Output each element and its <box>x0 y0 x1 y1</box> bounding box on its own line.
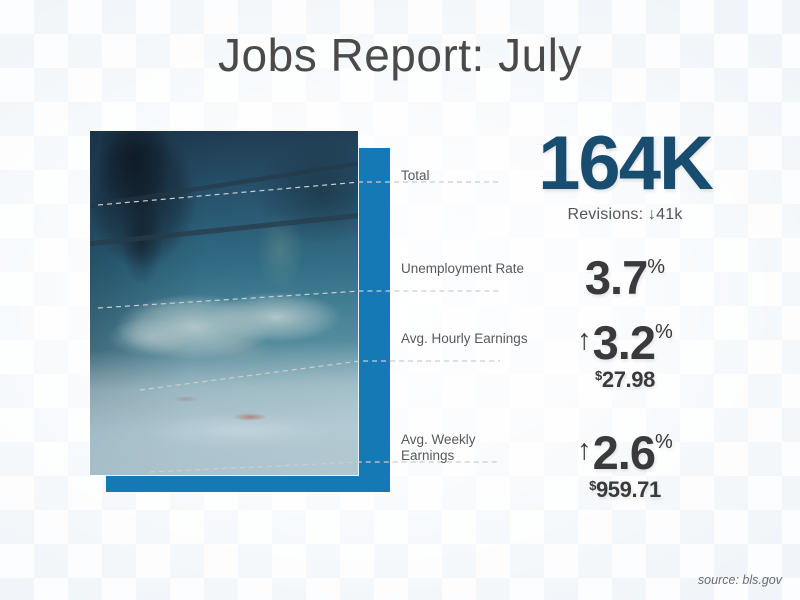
hourly-percent-row: ↑ 3.2 % <box>500 317 750 369</box>
handshake-photo <box>90 131 358 475</box>
up-arrow-icon: ↑ <box>577 317 592 363</box>
total-jobs-number: 164K <box>490 126 760 202</box>
weekly-number: 2.6 <box>593 427 655 479</box>
stat-value-total: 164K Revisions: ↓41k <box>490 126 760 224</box>
up-arrow-icon: ↑ <box>577 427 592 473</box>
page-title: Jobs Report: July <box>0 28 800 82</box>
revisions-label: Revisions: <box>567 206 643 223</box>
source-credit: source: bls.gov <box>698 573 782 587</box>
weekly-amount: $959.71 <box>500 477 750 503</box>
down-arrow-icon: ↓ <box>648 206 656 223</box>
photo-layer-blue-tint <box>90 131 358 475</box>
hourly-amount-value: 27.98 <box>602 367 655 392</box>
percent-symbol: % <box>647 254 665 280</box>
hourly-number: 3.2 <box>593 317 655 369</box>
stat-value-unemployment: 3.7 % <box>500 252 750 304</box>
infographic-canvas: Employment Report Jobs Report: July Tota… <box>0 0 800 600</box>
revisions-value: 41k <box>656 206 682 223</box>
unemployment-percent-row: 3.7 % <box>500 252 750 304</box>
percent-symbol: % <box>655 319 673 345</box>
weekly-percent-row: ↑ 2.6 % <box>500 427 750 479</box>
percent-symbol: % <box>655 429 673 455</box>
currency-symbol: $ <box>595 368 602 383</box>
photo-block <box>90 131 390 492</box>
stat-value-hourly: ↑ 3.2 % $27.98 <box>500 317 750 393</box>
stat-value-weekly: ↑ 2.6 % $959.71 <box>500 427 750 503</box>
unemployment-number: 3.7 <box>585 252 647 304</box>
revisions-line: Revisions: ↓41k <box>490 206 760 224</box>
currency-symbol: $ <box>589 478 596 493</box>
weekly-amount-value: 959.71 <box>596 477 661 502</box>
hourly-amount: $27.98 <box>500 367 750 393</box>
